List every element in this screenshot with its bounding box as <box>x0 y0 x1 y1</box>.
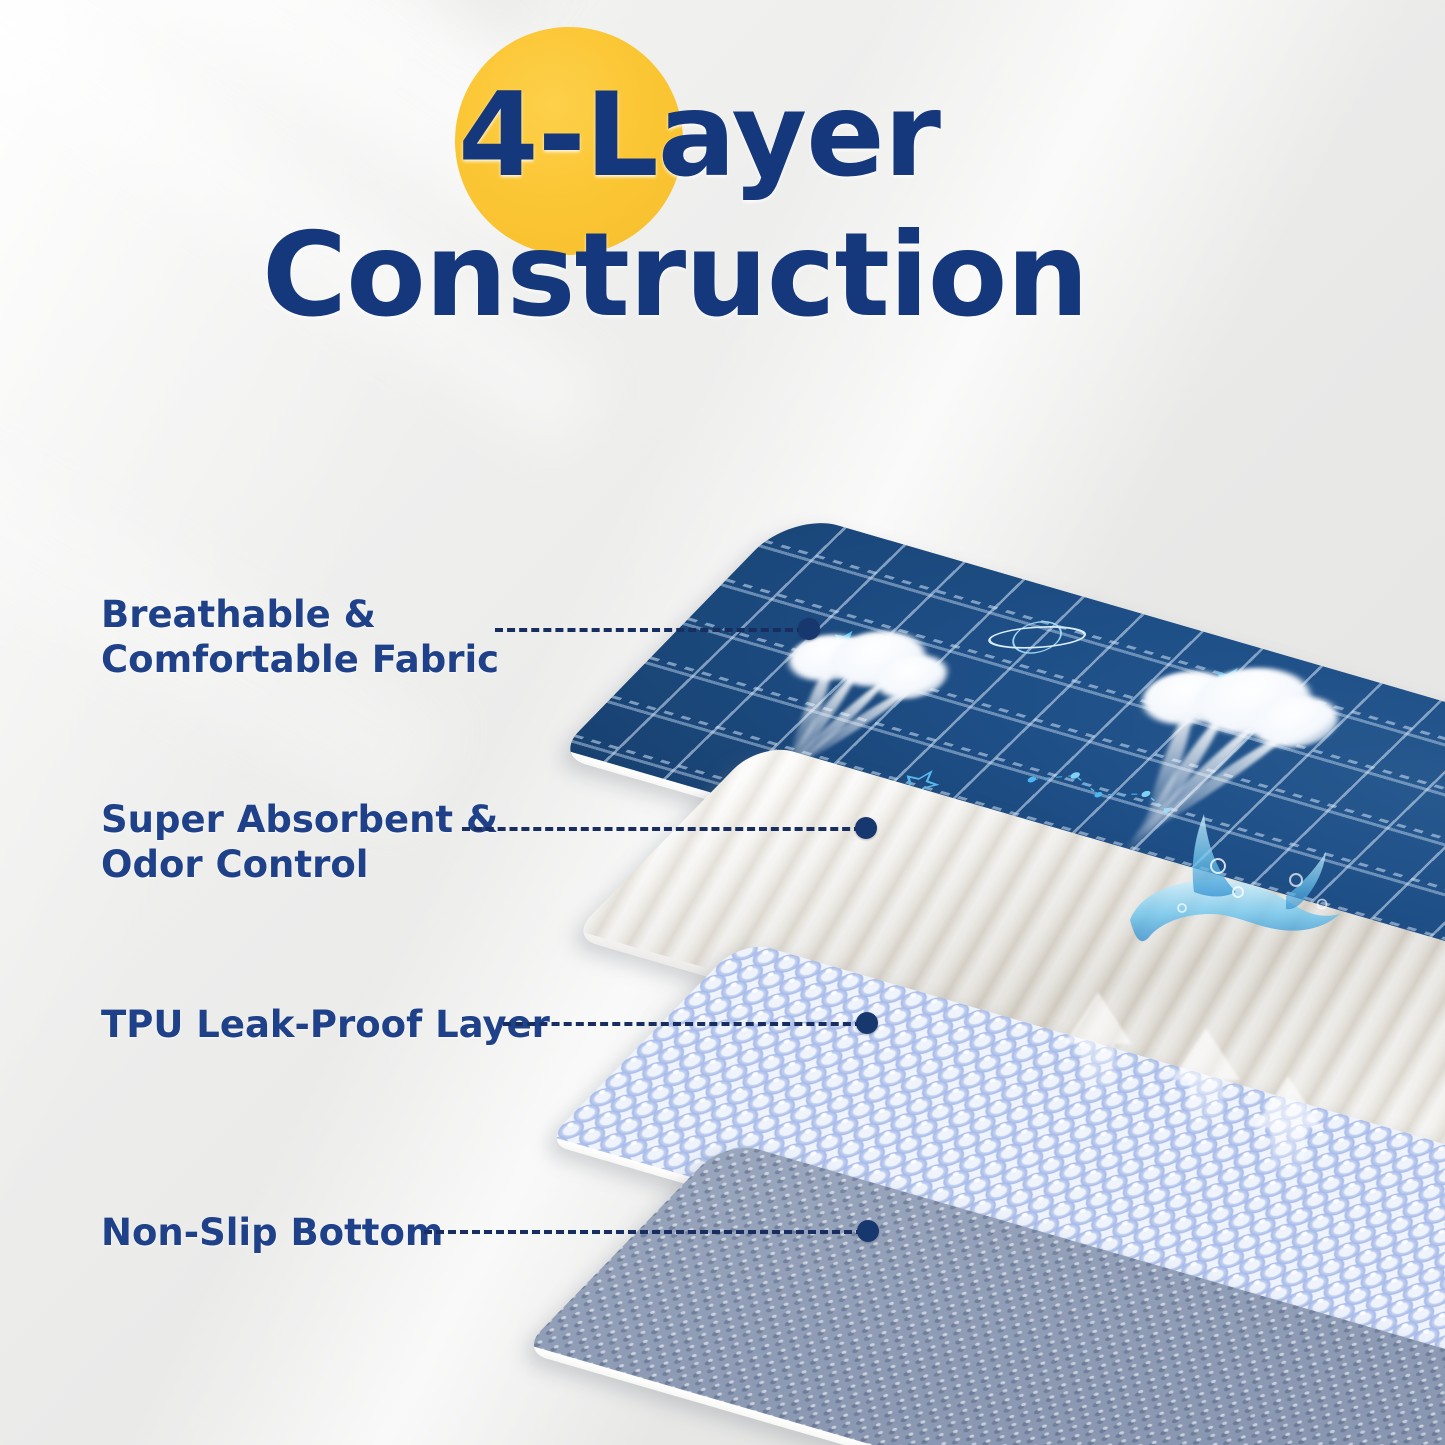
leader-dot-breathable-fabric <box>798 618 820 640</box>
callout-non-slip-bottom[interactable]: Non-Slip Bottom <box>101 1210 443 1255</box>
callout-breathable-fabric[interactable]: Breathable & Comfortable Fabric <box>101 592 499 682</box>
leader-line-non-slip-bottom <box>424 1230 864 1234</box>
leader-line-breathable-fabric <box>495 628 805 632</box>
callout-label: Super Absorbent & Odor Control <box>101 797 498 887</box>
leader-line-super-absorbent <box>462 827 862 831</box>
leader-dot-super-absorbent <box>855 817 877 839</box>
leader-dot-tpu-leak-proof <box>856 1012 878 1034</box>
callout-label: Breathable & Comfortable Fabric <box>101 592 499 682</box>
callout-label: TPU Leak-Proof Layer <box>101 1002 550 1047</box>
callout-label: Non-Slip Bottom <box>101 1210 443 1255</box>
star-motif <box>817 626 866 658</box>
leader-dot-non-slip-bottom <box>857 1220 879 1242</box>
infographic-canvas: 4-Layer Construction <box>0 0 1445 1445</box>
leader-line-tpu-leak-proof <box>503 1022 863 1026</box>
sheet-edge <box>521 1345 1445 1445</box>
callout-super-absorbent[interactable]: Super Absorbent & Odor Control <box>101 797 498 887</box>
callout-tpu-leak-proof[interactable]: TPU Leak-Proof Layer <box>101 1002 550 1047</box>
